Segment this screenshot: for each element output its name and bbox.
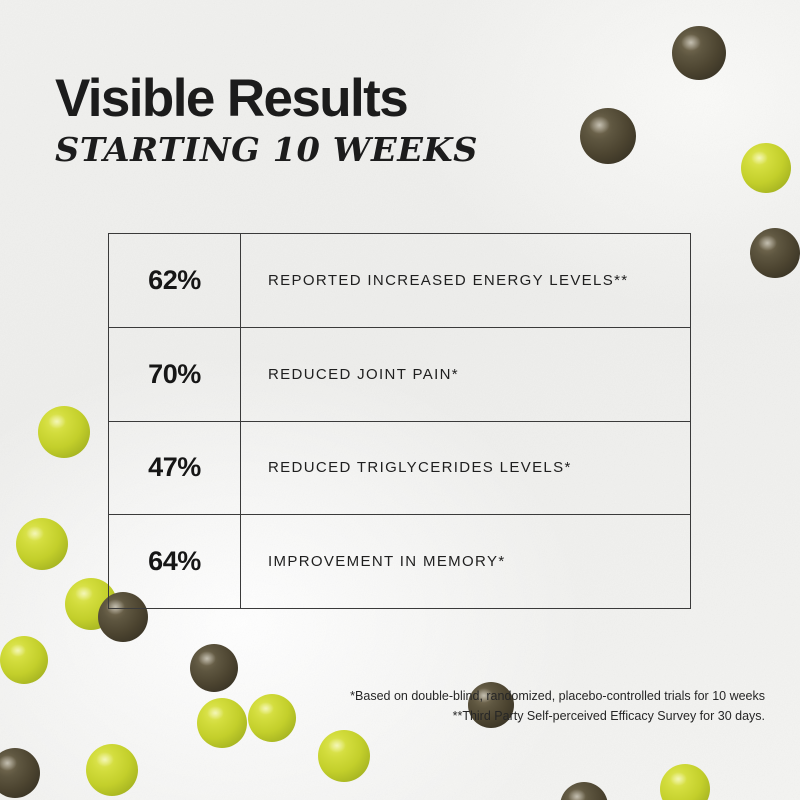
result-percentage: 62%	[109, 234, 241, 328]
result-claim: IMPROVEMENT IN MEMORY*	[241, 515, 691, 609]
table-row: 70%REDUCED JOINT PAIN*	[109, 327, 691, 421]
footnote-line-2: **Third Party Self-perceived Efficacy Su…	[245, 706, 765, 726]
result-percentage: 70%	[109, 327, 241, 421]
page-subtitle: STARTING 10 WEEKS	[55, 132, 478, 168]
page-title: Visible Results	[55, 72, 470, 126]
table-row: 47%REDUCED TRIGLYCERIDES LEVELS*	[109, 421, 691, 515]
result-percentage: 64%	[109, 515, 241, 609]
results-table: 62%REPORTED INCREASED ENERGY LEVELS**70%…	[108, 233, 691, 609]
result-claim: REPORTED INCREASED ENERGY LEVELS**	[241, 234, 691, 328]
result-claim: REDUCED TRIGLYCERIDES LEVELS*	[241, 421, 691, 515]
result-claim: REDUCED JOINT PAIN*	[241, 327, 691, 421]
table-row: 62%REPORTED INCREASED ENERGY LEVELS**	[109, 234, 691, 328]
header-block: Visible Results STARTING 10 WEEKS	[55, 72, 470, 168]
footnote-line-1: *Based on double-blind, randomized, plac…	[245, 686, 765, 706]
table-row: 64%IMPROVEMENT IN MEMORY*	[109, 515, 691, 609]
footnotes-block: *Based on double-blind, randomized, plac…	[245, 686, 765, 727]
result-percentage: 47%	[109, 421, 241, 515]
